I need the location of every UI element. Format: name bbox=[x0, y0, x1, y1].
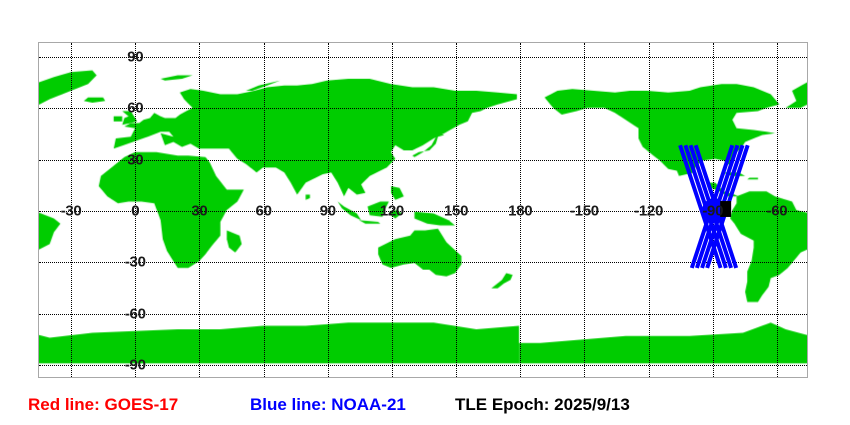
longitude-tick-label: 90 bbox=[320, 204, 336, 219]
longitude-tick-label: 150 bbox=[444, 204, 468, 219]
latitude-tick-label: -90 bbox=[125, 358, 146, 373]
longitude-tick-label: 120 bbox=[380, 204, 404, 219]
latitude-tick-label: -30 bbox=[125, 255, 146, 270]
latitude-tick-label: 30 bbox=[127, 152, 143, 167]
legend: Red line: GOES-17 Blue line: NOAA-21 TLE… bbox=[0, 392, 850, 420]
longitude-tick-label: -150 bbox=[570, 204, 599, 219]
longitude-tick-label: 180 bbox=[508, 204, 532, 219]
longitude-tick-label: -60 bbox=[767, 204, 788, 219]
latitude-tick-label: 90 bbox=[127, 49, 143, 64]
latitude-tick-label: 60 bbox=[127, 101, 143, 116]
world-map-landmass-canvas bbox=[39, 43, 807, 377]
legend-tle-epoch: TLE Epoch: 2025/9/13 bbox=[455, 396, 630, 413]
latitude-tick-label: -60 bbox=[125, 306, 146, 321]
longitude-tick-label: 30 bbox=[191, 204, 207, 219]
longitude-tick-label: -90 bbox=[702, 204, 723, 219]
latitude-tick-label: 0 bbox=[131, 204, 139, 219]
longitude-tick-label: -120 bbox=[634, 204, 663, 219]
legend-red-line-goes: Red line: GOES-17 bbox=[28, 396, 178, 413]
longitude-tick-label: 60 bbox=[256, 204, 272, 219]
world-map: -300306090120150180-150-120-90-609060300… bbox=[38, 42, 808, 378]
longitude-tick-label: -30 bbox=[61, 204, 82, 219]
legend-blue-line-noaa: Blue line: NOAA-21 bbox=[250, 396, 406, 413]
